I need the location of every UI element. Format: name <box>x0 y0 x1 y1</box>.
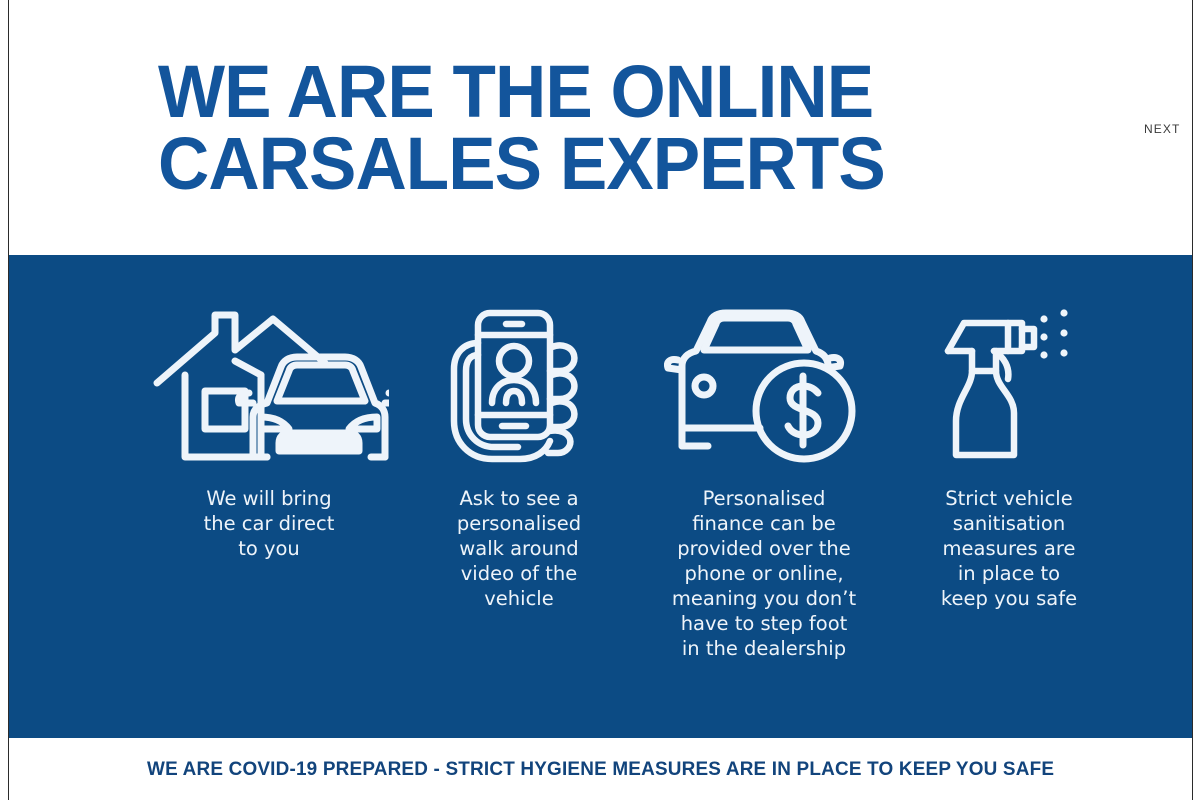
car-with-dollar-coin-icon <box>664 300 864 475</box>
house-with-car-icon <box>149 300 389 475</box>
features-list: We will bring the car direct to you <box>149 300 1109 662</box>
frame-border-right <box>1192 0 1193 800</box>
spray-bottle-icon <box>934 300 1084 475</box>
next-button[interactable]: NEXT <box>1144 122 1180 136</box>
feature-item-sanitisation: Strict vehicle sanitisation measures are… <box>909 300 1109 612</box>
feature-caption: Ask to see a personalised walk around vi… <box>457 487 581 612</box>
hand-holding-phone-icon <box>444 300 594 475</box>
slide-root: WE ARE THE ONLINE CARSALES EXPERTS NEXT <box>0 0 1200 800</box>
feature-caption: Strict vehicle sanitisation measures are… <box>941 487 1077 612</box>
covid-banner: WE ARE COVID-19 PREPARED - STRICT HYGIEN… <box>9 738 1192 800</box>
page-title: WE ARE THE ONLINE CARSALES EXPERTS <box>158 56 1022 200</box>
feature-caption: Personalised finance can be provided ove… <box>672 487 856 662</box>
feature-caption: We will bring the car direct to you <box>204 487 335 562</box>
features-panel: We will bring the car direct to you <box>9 255 1192 738</box>
feature-item-delivery: We will bring the car direct to you <box>149 300 389 562</box>
feature-item-finance: Personalised finance can be provided ove… <box>649 300 879 662</box>
covid-banner-text: WE ARE COVID-19 PREPARED - STRICT HYGIEN… <box>147 758 1054 781</box>
feature-item-video-walkaround: Ask to see a personalised walk around vi… <box>419 300 619 612</box>
